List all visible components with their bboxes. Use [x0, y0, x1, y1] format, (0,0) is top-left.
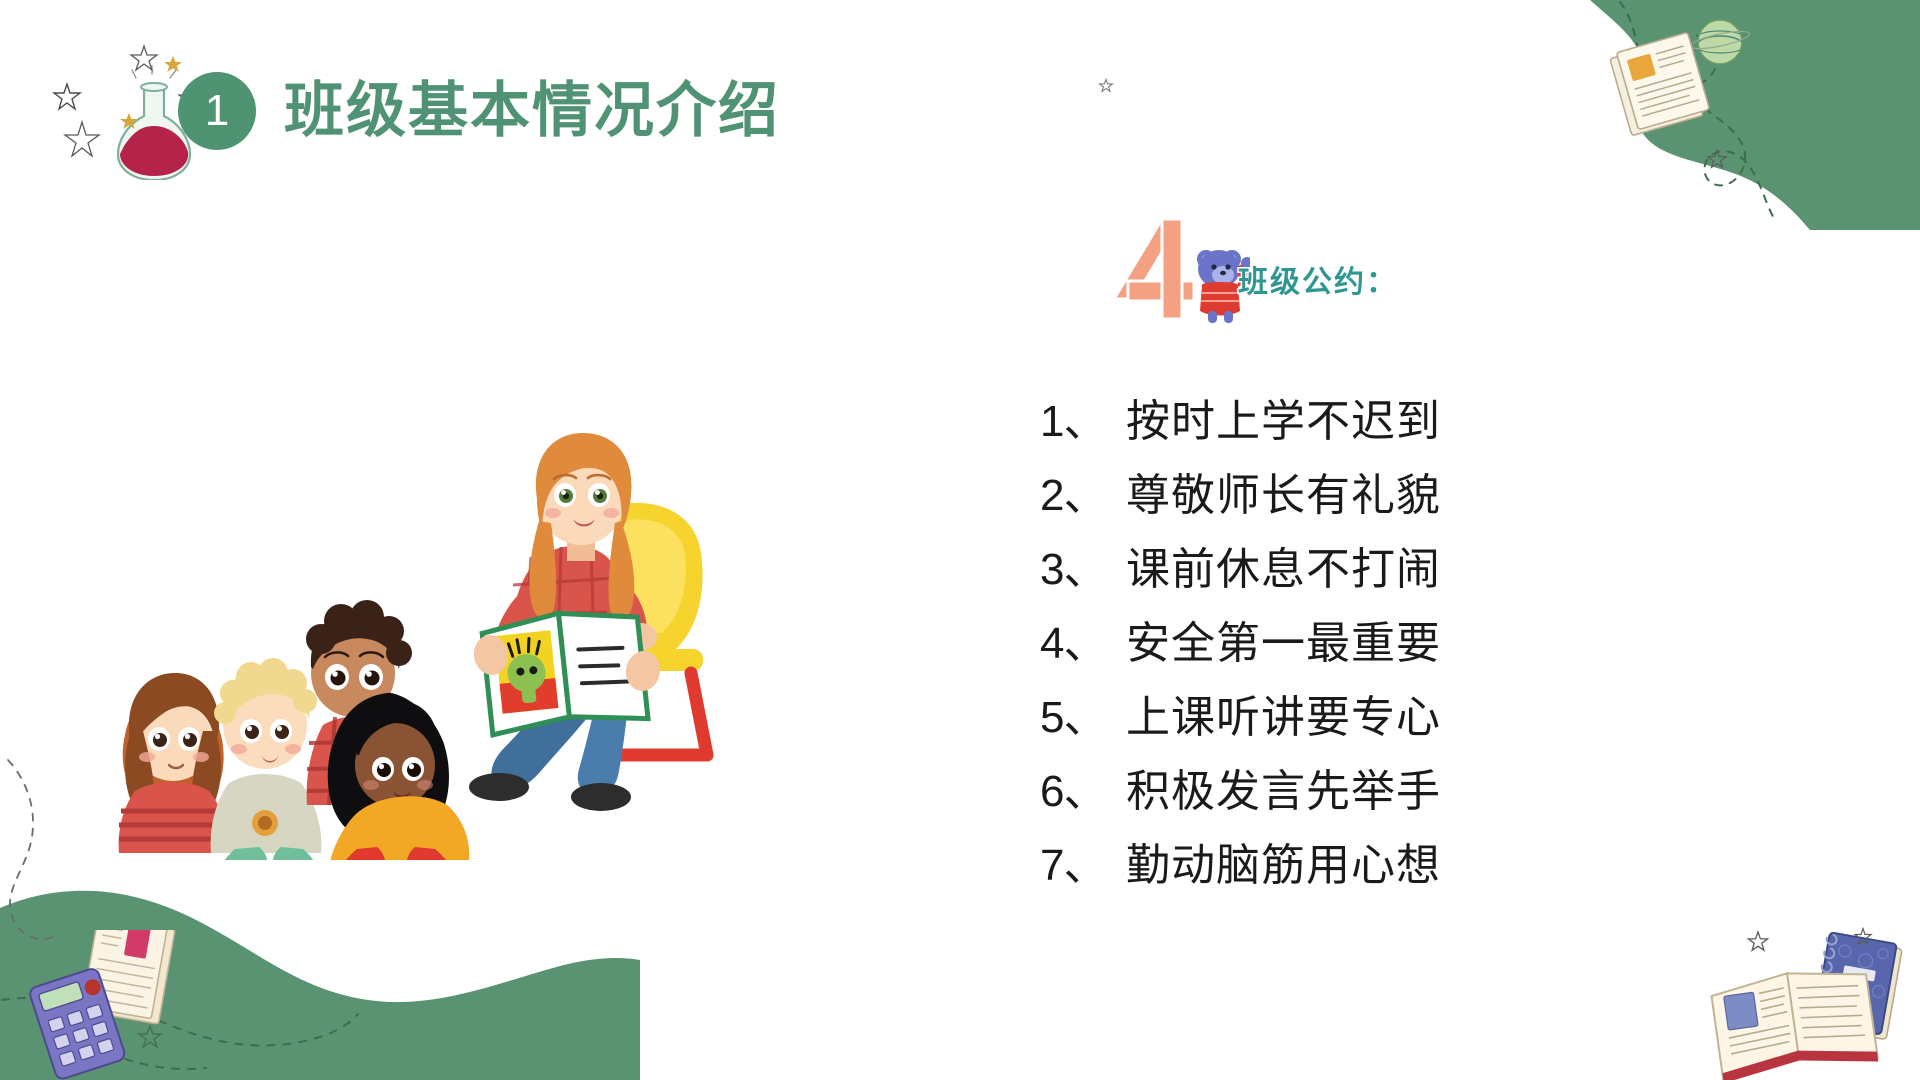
list-item-index: 3、: [1040, 533, 1126, 607]
list-item-index: 4、: [1040, 607, 1126, 681]
list-item: 7、 勤动脑筋用心想: [1040, 829, 1510, 903]
list-item: 2、 尊敬师长有礼貌: [1040, 459, 1510, 533]
section-number-badge: 1: [178, 72, 256, 150]
list-item: 3、 课前休息不打闹: [1040, 533, 1510, 607]
list-item-text: 课前休息不打闹: [1126, 533, 1441, 607]
list-item-index: 2、: [1040, 459, 1126, 533]
page-title: 班级基本情况介绍: [284, 81, 780, 141]
pledge-title: 班级公约：: [1238, 257, 1398, 301]
slide-canvas: 1 班级基本情况介绍: [0, 0, 1920, 1080]
star-icon: [1098, 78, 1114, 94]
teacher-reading-to-children-illustration: [95, 425, 795, 860]
pledge-header: 班级公约：: [1090, 215, 1510, 325]
list-item: 1、 按时上学不迟到: [1040, 385, 1510, 459]
star-icon: [1706, 148, 1728, 170]
list-item-index: 1、: [1040, 385, 1126, 459]
list-item-index: 6、: [1040, 755, 1126, 829]
newspaper-icon: [1605, 30, 1715, 140]
pledge-list: 1、 按时上学不迟到 2、 尊敬师长有礼貌 3、 课前休息不打闹 4、 安全第一…: [1040, 385, 1510, 903]
slide-heading: 1 班级基本情况介绍: [178, 72, 780, 150]
list-item: 4、 安全第一最重要: [1040, 607, 1510, 681]
pledge-mark-illustration: [1090, 215, 1250, 325]
list-item-index: 7、: [1040, 829, 1126, 903]
list-item: 5、 上课听讲要专心: [1040, 681, 1510, 755]
list-item-text: 安全第一最重要: [1126, 607, 1441, 681]
section-number: 1: [205, 89, 229, 133]
list-item-index: 5、: [1040, 681, 1126, 755]
calculator-and-document-icon: [18, 930, 208, 1080]
list-item: 6、 积极发言先举手: [1040, 755, 1510, 829]
list-item-text: 积极发言先举手: [1126, 755, 1441, 829]
open-book-and-notebook-icon: [1690, 930, 1920, 1080]
list-item-text: 勤动脑筋用心想: [1126, 829, 1441, 903]
list-item-text: 上课听讲要专心: [1126, 681, 1441, 755]
list-item-text: 尊敬师长有礼貌: [1126, 459, 1441, 533]
list-item-text: 按时上学不迟到: [1126, 385, 1441, 459]
